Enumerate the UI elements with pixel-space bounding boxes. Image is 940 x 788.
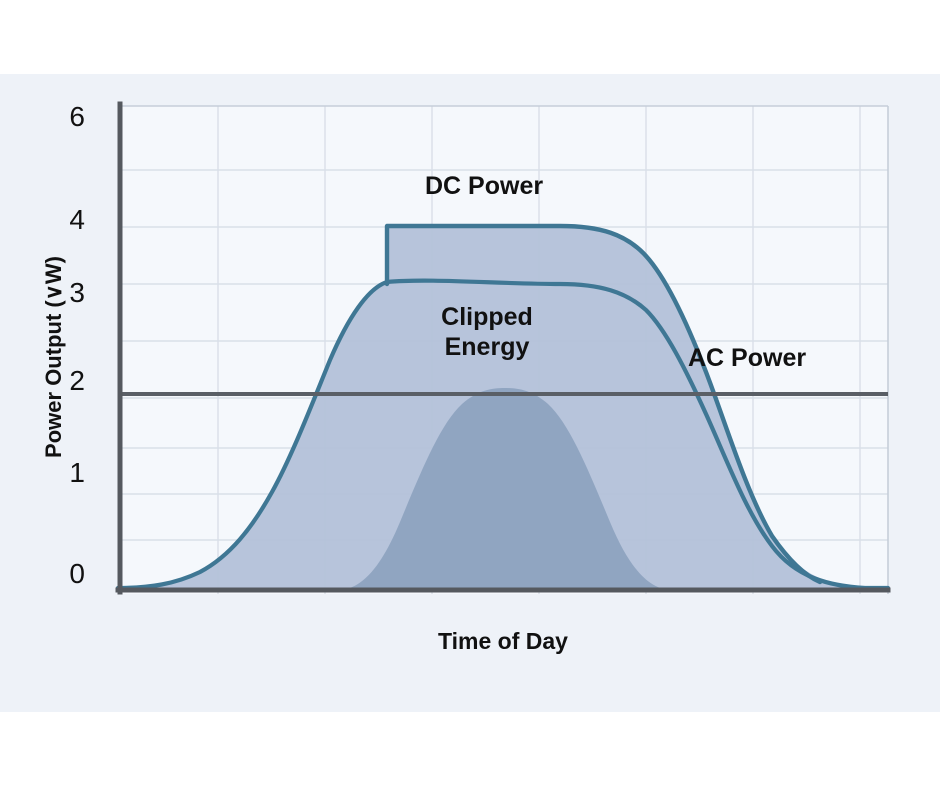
plot-canvas bbox=[0, 0, 940, 788]
clipped-energy-line2: Energy bbox=[387, 333, 587, 363]
ac-power-label: AC Power bbox=[688, 344, 806, 373]
y-axis-title: Power Output (∨W) bbox=[41, 207, 67, 507]
clipped-energy-label: ClippedEnergy bbox=[387, 303, 587, 362]
y-tick-label-6: 6 bbox=[45, 103, 85, 131]
chart-figure: 6 4 3 2 1 0 Power Output (∨W) Time of Da… bbox=[0, 0, 940, 788]
x-axis-title: Time of Day bbox=[118, 628, 888, 655]
clipped-energy-line1: Clipped bbox=[441, 303, 533, 331]
dc-power-label: DC Power bbox=[425, 172, 543, 201]
y-tick-label-0: 0 bbox=[45, 560, 85, 588]
